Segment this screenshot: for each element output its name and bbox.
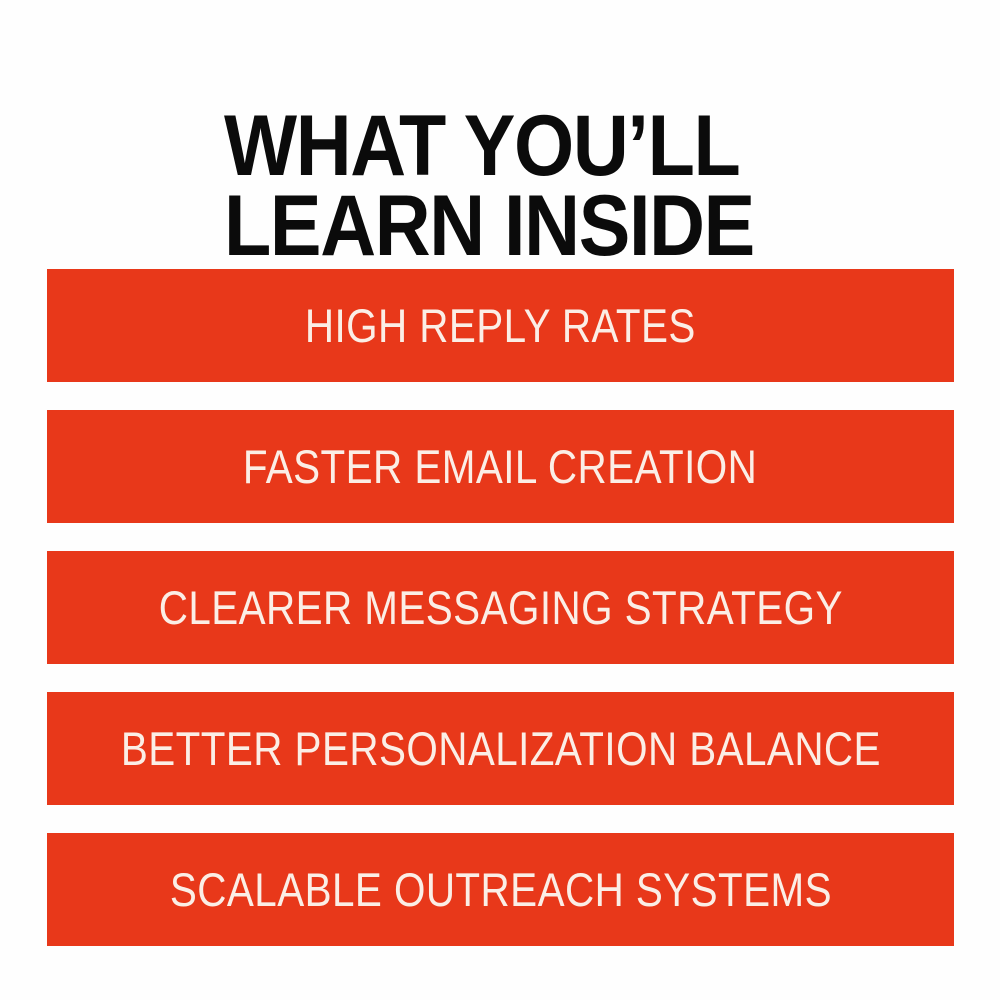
poster-canvas: WHAT YOU’LL LEARN INSIDE HIGH REPLY RATE… [0,0,1000,1000]
benefit-bar-3: CLEARER MESSAGING STRATEGY [47,551,954,664]
benefit-bar-1-label: HIGH REPLY RATES [305,302,696,349]
benefit-bar-list: HIGH REPLY RATES FASTER EMAIL CREATION C… [47,269,954,946]
benefit-bar-4-label: BETTER PERSONALIZATION BALANCE [120,725,880,772]
benefit-bar-5-label: SCALABLE OUTREACH SYSTEMS [169,866,831,913]
page-title-line-2: LEARN INSIDE [224,186,890,266]
page-title-line-1: WHAT YOU’LL [224,106,890,186]
benefit-bar-4: BETTER PERSONALIZATION BALANCE [47,692,954,805]
benefit-bar-1: HIGH REPLY RATES [47,269,954,382]
page-title: WHAT YOU’LL LEARN INSIDE [224,106,890,266]
benefit-bar-2-label: FASTER EMAIL CREATION [243,443,757,490]
benefit-bar-2: FASTER EMAIL CREATION [47,410,954,523]
benefit-bar-3-label: CLEARER MESSAGING STRATEGY [158,584,842,631]
benefit-bar-5: SCALABLE OUTREACH SYSTEMS [47,833,954,946]
